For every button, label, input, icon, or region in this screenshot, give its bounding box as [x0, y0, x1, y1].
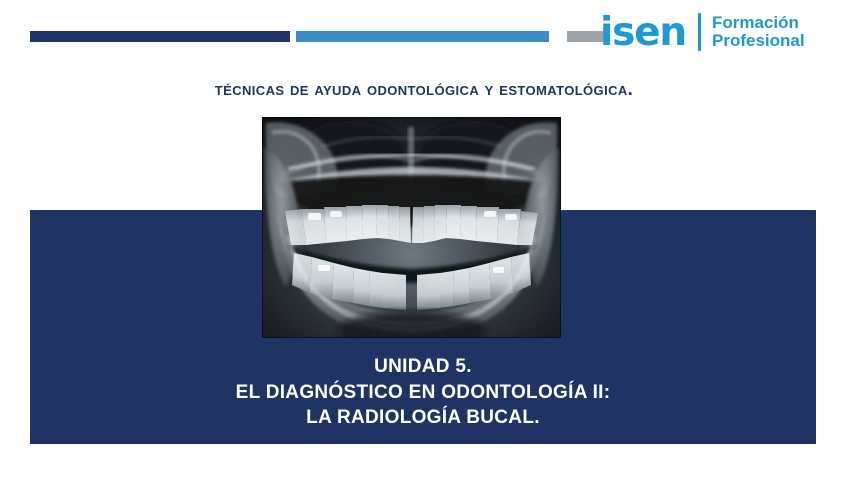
logo-divider — [698, 13, 701, 51]
subtitle-line-1: UNIDAD 5. — [30, 354, 816, 380]
decor-bar-blue — [296, 31, 549, 42]
logo-tagline: Formación Profesional — [712, 14, 805, 51]
subtitle-line-2: EL DIAGNÓSTICO EN ODONTOLOGÍA II: — [30, 380, 816, 406]
slide-canvas: isen Formación Profesional Técnicas de a… — [0, 0, 848, 477]
brand-logo: isen Formación Profesional — [600, 8, 805, 56]
logo-tagline-line2: Profesional — [712, 31, 805, 50]
logo-wordmark-isen: isen — [600, 13, 686, 52]
slide-subtitle: UNIDAD 5. EL DIAGNÓSTICO EN ODONTOLOGÍA … — [30, 354, 816, 431]
dental-xray-image — [262, 117, 561, 338]
xray-graphic — [262, 117, 561, 338]
logo-tagline-line1: Formación — [712, 13, 799, 32]
page-title: Técnicas de ayuda odontológica y estomat… — [0, 78, 848, 100]
decor-bar-navy — [30, 31, 290, 42]
subtitle-line-3: LA RADIOLOGÍA BUCAL. — [30, 405, 816, 431]
